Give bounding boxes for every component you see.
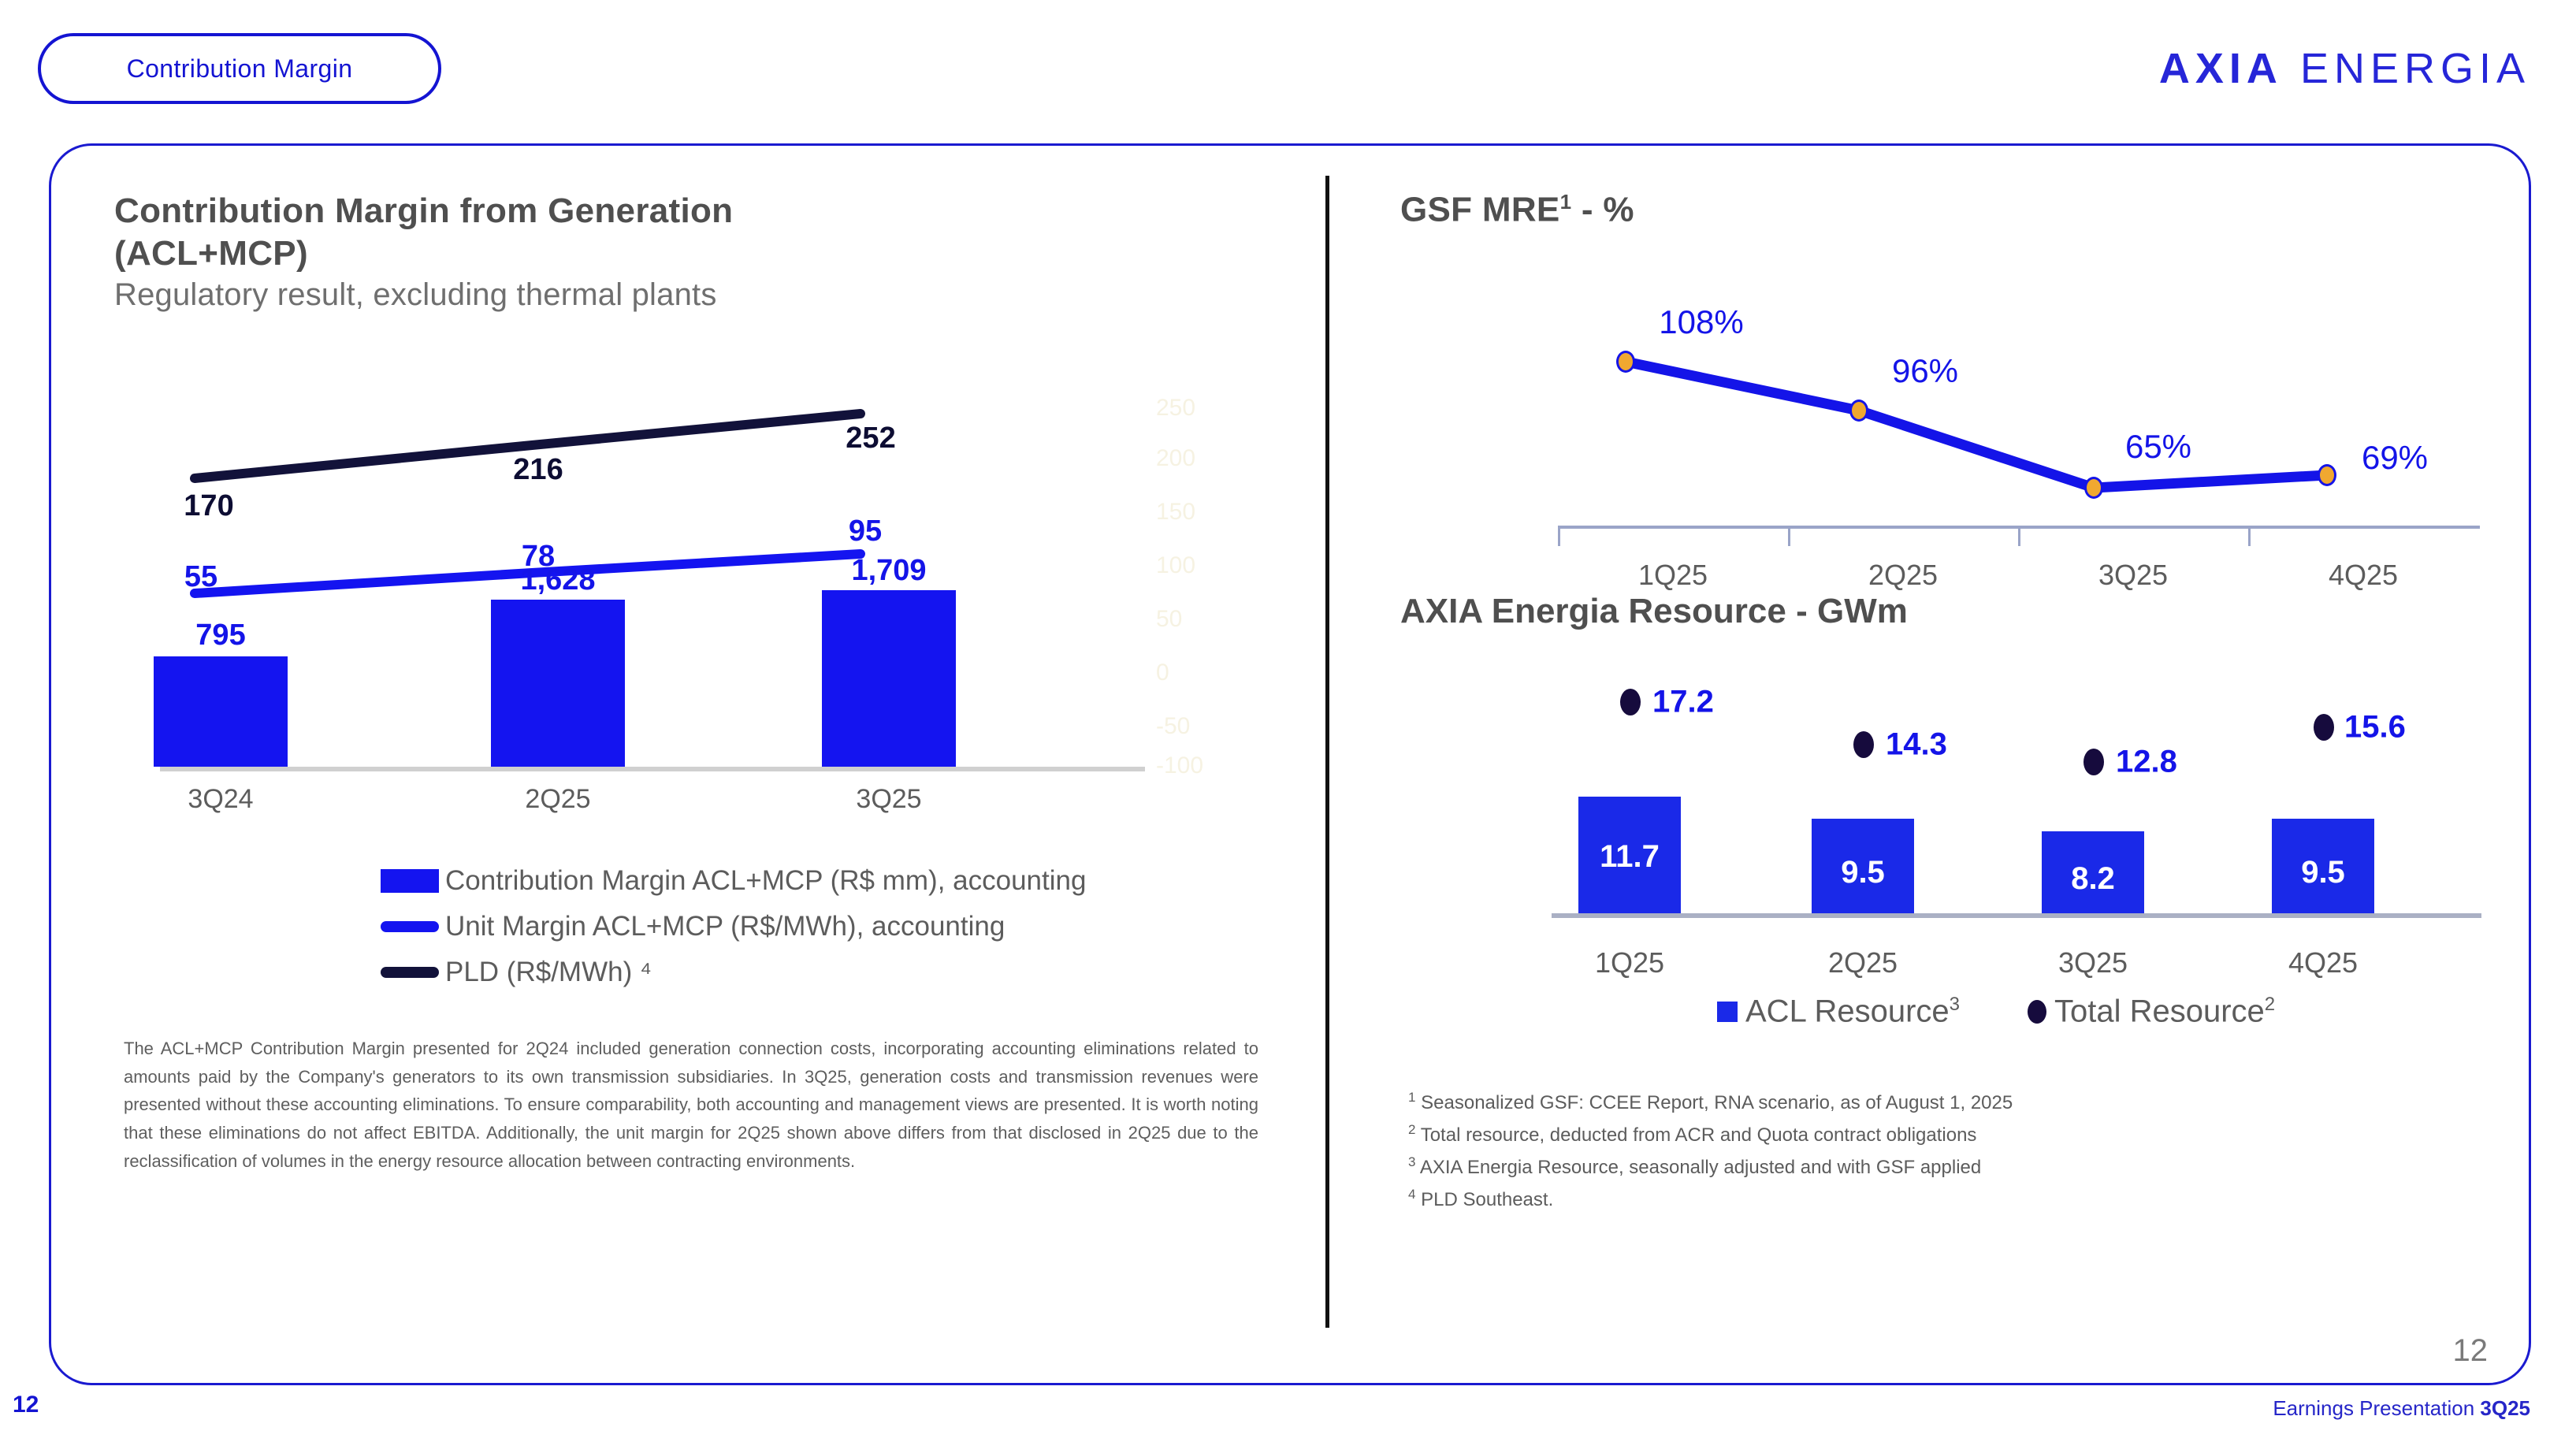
bar-contribution-3q24[interactable] [154, 656, 288, 767]
legend-label-total-resource-text: Total Resource [2054, 994, 2265, 1028]
total-resource-value-4q25: 15.6 [2344, 710, 2406, 745]
total-resource-dot-3q25[interactable] [2083, 749, 2104, 775]
gsf-value-2q25: 96% [1892, 352, 1958, 390]
contribution-margin-plot-area: 170 216 252 55 78 95 795 1,628 1,709 [162, 396, 1139, 767]
left-chart-subtitle: Regulatory result, excluding thermal pla… [114, 277, 1288, 313]
legend-label-acl-resource-text: ACL Resource [1745, 994, 1950, 1028]
resource-chart-title: AXIA Energia Resource - GWm [1400, 592, 1908, 631]
gsf-x-category-3q25: 3Q25 [2098, 559, 2168, 592]
acl-resource-value-3q25: 8.2 [2071, 861, 2115, 897]
logo-axia-text: AXIA [2159, 45, 2283, 92]
x-category-3q24: 3Q24 [188, 784, 253, 815]
total-resource-value-2q25: 14.3 [1886, 727, 1947, 763]
footnote-1-text: Seasonalized GSF: CCEE Report, RNA scena… [1415, 1092, 2013, 1113]
total-resource-dot-4q25[interactable] [2314, 714, 2334, 741]
left-footnote-paragraph: The ACL+MCP Contribution Margin presente… [124, 1035, 1258, 1175]
legend-line-swatch-dark-icon [381, 967, 439, 978]
resource-x-category-1q25: 1Q25 [1595, 946, 1664, 979]
legend-label-total-resource-superscript: 2 [2265, 994, 2275, 1015]
gsf-mre-chart: 108% 96% 65% 69% 1Q25 2Q25 3Q25 4Q25 [1400, 261, 2488, 576]
y-tick-100: 100 [1156, 552, 1195, 579]
section-title-pill[interactable]: Contribution Margin [38, 33, 441, 104]
resource-x-category-3q25: 3Q25 [2058, 946, 2128, 979]
footnote-2: 2 Total resource, deducted from ACR and … [1408, 1119, 2013, 1151]
bar-label-2q25: 1,628 [520, 563, 595, 597]
section-title-label: Contribution Margin [127, 54, 353, 84]
acl-resource-value-1q25: 11.7 [1600, 839, 1660, 875]
unit-margin-label-3q24: 55 [184, 560, 217, 594]
legend-label-total-resource: Total Resource2 [2054, 994, 2275, 1029]
resource-chart-legend: ACL Resource3 Total Resource2 [1717, 994, 2275, 1029]
total-resource-dot-1q25[interactable] [1620, 689, 1641, 715]
left-chart-title: Contribution Margin from Generation (ACL… [114, 190, 1288, 274]
contribution-margin-chart: 250 200 150 100 50 0 -50 -100 [114, 396, 1288, 814]
footnote-3: 3 AXIA Energia Resource, seasonally adju… [1408, 1151, 2013, 1184]
legend-label-acl-resource: ACL Resource3 [1745, 994, 1960, 1029]
gsf-point-1q25[interactable] [1616, 351, 1635, 373]
footnote-1: 1 Seasonalized GSF: CCEE Report, RNA sce… [1408, 1087, 2013, 1119]
resource-x-category-4q25: 4Q25 [2288, 946, 2358, 979]
gsf-point-2q25[interactable] [1849, 400, 1868, 422]
bar-label-3q25: 1,709 [851, 554, 926, 588]
slide-page-number: 12 [13, 1392, 39, 1418]
total-resource-dot-2q25[interactable] [1853, 731, 1874, 758]
gsf-point-3q25[interactable] [2084, 477, 2103, 499]
legend-circle-swatch-icon [2028, 1000, 2046, 1024]
gsf-axis-tick-3 [2248, 526, 2251, 546]
footnote-4: 4 PLD Southeast. [1408, 1184, 2013, 1216]
unit-margin-label-3q25: 95 [849, 515, 882, 548]
acl-resource-value-2q25: 9.5 [1841, 855, 1885, 890]
gsf-chart-title-superscript: 1 [1560, 190, 1572, 214]
footnote-2-text: Total resource, deducted from ACR and Qu… [1415, 1124, 1976, 1146]
legend-label-contribution-margin: Contribution Margin ACL+MCP (R$ mm), acc… [445, 865, 1086, 897]
resource-x-axis [1552, 913, 2481, 918]
axia-energia-resource-chart: 17.2 14.3 12.8 15.6 11.7 9.5 8.2 9.5 1Q2… [1400, 660, 2488, 975]
legend-bar-swatch-icon [381, 869, 439, 893]
resource-x-category-2q25: 2Q25 [1828, 946, 1898, 979]
footnote-3-text: AXIA Energia Resource, seasonally adjust… [1415, 1157, 1981, 1178]
left-chart-legend: Contribution Margin ACL+MCP (R$ mm), acc… [381, 858, 1086, 995]
gsf-x-category-2q25: 2Q25 [1868, 559, 1938, 592]
legend-square-swatch-icon [1717, 1002, 1738, 1022]
x-category-2q25: 2Q25 [525, 784, 590, 815]
y-tick-200: 200 [1156, 445, 1195, 472]
gsf-value-1q25: 108% [1659, 303, 1743, 341]
gsf-x-category-1q25: 1Q25 [1638, 559, 1708, 592]
gsf-chart-title-text: GSF MRE [1400, 191, 1560, 229]
x-category-3q25: 3Q25 [856, 784, 921, 815]
legend-line-swatch-blue-icon [381, 921, 439, 932]
gsf-x-category-4q25: 4Q25 [2329, 559, 2398, 592]
panel-divider [1325, 176, 1329, 1328]
card-page-number: 12 [2453, 1333, 2489, 1369]
legend-item-total-resource[interactable]: Total Resource2 [2028, 994, 2275, 1029]
pld-label-3q24: 170 [184, 489, 233, 523]
acl-resource-value-4q25: 9.5 [2301, 855, 2345, 890]
left-chart-x-axis [160, 767, 1145, 771]
legend-item-acl-resource[interactable]: ACL Resource3 [1717, 994, 1960, 1029]
presentation-footer-quarter: 3Q25 [2480, 1396, 2530, 1420]
y-tick-50: 50 [1156, 606, 1182, 633]
gsf-chart-title-suffix: - % [1571, 191, 1634, 229]
y-tick-neg100: -100 [1156, 753, 1203, 779]
legend-item-unit-margin[interactable]: Unit Margin ACL+MCP (R$/MWh), accounting [381, 904, 1086, 950]
y-tick-150: 150 [1156, 499, 1195, 526]
y-tick-0: 0 [1156, 660, 1169, 686]
left-panel: Contribution Margin from Generation (ACL… [114, 190, 1288, 1348]
right-footnotes: 1 Seasonalized GSF: CCEE Report, RNA sce… [1408, 1087, 2013, 1216]
right-panel: GSF MRE1 - % 108% 96% 65% 69% [1400, 190, 2488, 1348]
legend-item-contribution-margin[interactable]: Contribution Margin ACL+MCP (R$ mm), acc… [381, 858, 1086, 904]
legend-item-pld[interactable]: PLD (R$/MWh) ⁴ [381, 950, 1086, 995]
total-resource-value-1q25: 17.2 [1652, 685, 1714, 720]
unit-margin-line-series [162, 396, 1139, 767]
logo-energia-text: ENERGIA [2300, 45, 2530, 92]
gsf-line-series [1400, 261, 2488, 544]
y-tick-neg50: -50 [1156, 713, 1190, 740]
left-chart-title-line1: Contribution Margin from Generation [114, 190, 1288, 232]
axia-energia-logo: AXIA ENERGIA [2159, 44, 2530, 93]
legend-label-pld: PLD (R$/MWh) ⁴ [445, 957, 652, 988]
gsf-axis-tick-2 [2018, 526, 2020, 546]
pld-label-3q25: 252 [846, 422, 895, 455]
bar-label-3q24: 795 [195, 619, 245, 652]
gsf-point-4q25[interactable] [2318, 464, 2336, 486]
gsf-value-4q25: 69% [2362, 439, 2428, 477]
y-tick-250: 250 [1156, 395, 1195, 422]
slide: Contribution Margin AXIA ENERGIA Contrib… [0, 0, 2576, 1442]
legend-label-acl-resource-superscript: 3 [1950, 994, 1960, 1015]
gsf-chart-title: GSF MRE1 - % [1400, 190, 2488, 230]
presentation-footer-text: Earnings Presentation [2273, 1396, 2480, 1420]
bar-contribution-3q25[interactable] [822, 590, 956, 767]
gsf-value-3q25: 65% [2125, 428, 2191, 466]
gsf-axis-tick-1 [1788, 526, 1790, 546]
gsf-axis-tick-0 [1558, 526, 1560, 546]
legend-label-unit-margin: Unit Margin ACL+MCP (R$/MWh), accounting [445, 911, 1005, 942]
content-card: Contribution Margin from Generation (ACL… [49, 143, 2531, 1385]
total-resource-value-3q25: 12.8 [2116, 745, 2177, 780]
presentation-footer-label: Earnings Presentation 3Q25 [2273, 1396, 2530, 1421]
left-chart-title-line2: (ACL+MCP) [114, 232, 1288, 275]
footnote-4-text: PLD Southeast. [1415, 1189, 1553, 1210]
bar-contribution-2q25[interactable] [491, 600, 625, 767]
pld-label-2q25: 216 [513, 453, 563, 487]
